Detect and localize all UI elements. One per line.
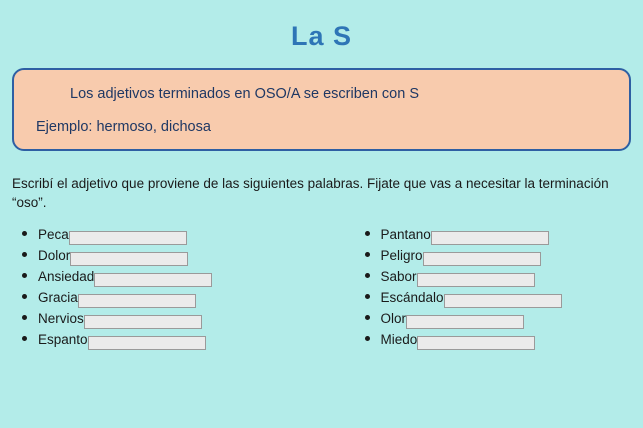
list-item: Miedo [355,330,643,351]
instructions-text: Escribí el adjetivo que proviene de las … [12,174,631,213]
page-title: La S [0,0,643,52]
bullet-icon [365,252,370,257]
list-item: Olor [355,309,643,330]
bullet-icon [365,315,370,320]
prompt-word: Escándalo [381,288,444,307]
answer-input[interactable] [417,336,535,350]
bullet-icon [365,273,370,278]
right-item-list: Pantano Peligro Sabor Escándalo [355,225,643,351]
prompt-word: Nervios [38,309,84,328]
answer-input[interactable] [84,315,202,329]
list-item: Ansiedad [12,267,328,288]
prompt-word: Gracia [38,288,78,307]
left-column: Peca Dolor Ansiedad Gracia [12,225,328,351]
answer-input[interactable] [444,294,562,308]
rule-statement: Los adjetivos terminados en OSO/A se esc… [32,82,611,102]
prompt-word: Peca [38,225,69,244]
prompt-word: Espanto [38,330,88,349]
list-item: Peligro [355,246,643,267]
bullet-icon [22,315,27,320]
worksheet-page: La S Los adjetivos terminados en OSO/A s… [0,0,643,428]
bullet-icon [22,273,27,278]
prompt-word: Pantano [381,225,431,244]
prompt-word: Sabor [381,267,417,286]
answer-input[interactable] [423,252,541,266]
list-item: Espanto [12,330,328,351]
exercise-columns: Peca Dolor Ansiedad Gracia [0,225,643,351]
list-item: Peca [12,225,328,246]
answer-input[interactable] [88,336,206,350]
prompt-word: Dolor [38,246,70,265]
list-item: Sabor [355,267,643,288]
answer-input[interactable] [70,252,188,266]
answer-input[interactable] [431,231,549,245]
answer-input[interactable] [69,231,187,245]
rule-box: Los adjetivos terminados en OSO/A se esc… [12,68,631,151]
prompt-word: Ansiedad [38,267,94,286]
bullet-icon [22,252,27,257]
answer-input[interactable] [417,273,535,287]
bullet-icon [365,231,370,236]
left-item-list: Peca Dolor Ansiedad Gracia [12,225,328,351]
prompt-word: Miedo [381,330,418,349]
bullet-icon [22,231,27,236]
list-item: Gracia [12,288,328,309]
answer-input[interactable] [78,294,196,308]
prompt-word: Olor [381,309,407,328]
answer-input[interactable] [406,315,524,329]
right-column: Pantano Peligro Sabor Escándalo [328,225,643,351]
list-item: Escándalo [355,288,643,309]
bullet-icon [365,336,370,341]
bullet-icon [365,294,370,299]
bullet-icon [22,294,27,299]
list-item: Dolor [12,246,328,267]
rule-example: Ejemplo: hermoso, dichosa [32,102,611,135]
answer-input[interactable] [94,273,212,287]
list-item: Nervios [12,309,328,330]
prompt-word: Peligro [381,246,423,265]
bullet-icon [22,336,27,341]
list-item: Pantano [355,225,643,246]
